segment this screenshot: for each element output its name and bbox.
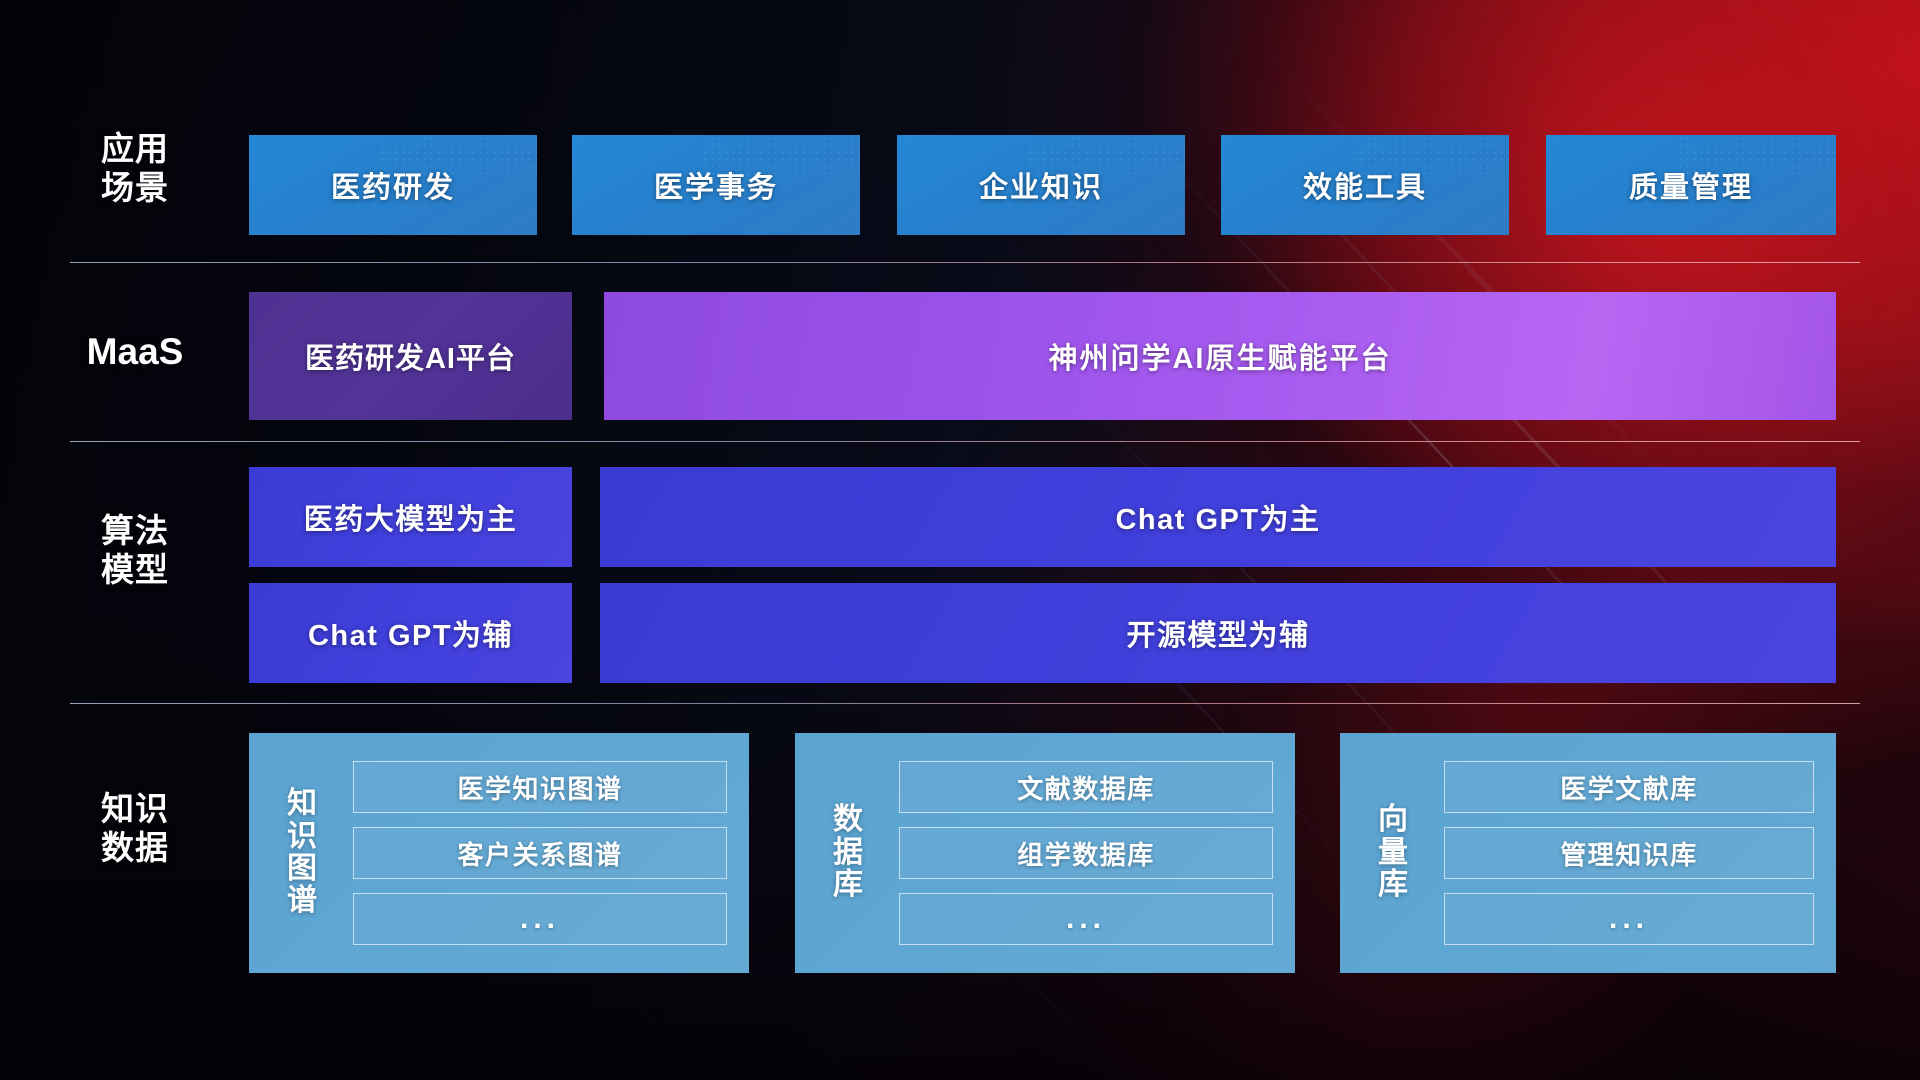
app-scenario-label-4: 效能工具 [1303, 164, 1427, 206]
knowledge-group-side-label-1: 知 识 图 谱 [271, 788, 333, 918]
algorithm-box-right-2[interactable]: 开源模型为辅 [600, 583, 1836, 683]
app-scenario-box-2[interactable]: 医学事务 [572, 135, 860, 235]
maas-main-box[interactable]: 神州问学AI原生赋能平台 [604, 292, 1836, 420]
algorithm-label-right-1: Chat GPT为主 [1115, 496, 1320, 538]
knowledge-item[interactable]: 医学文献库 [1444, 761, 1814, 813]
algorithm-box-left-2[interactable]: Chat GPT为辅 [249, 583, 572, 683]
row-divider-1 [70, 262, 1860, 263]
app-scenario-label-1: 医药研发 [331, 164, 455, 206]
app-scenario-label-5: 质量管理 [1629, 164, 1753, 206]
app-scenario-box-4[interactable]: 效能工具 [1221, 135, 1509, 235]
knowledge-group-vector-store[interactable]: 向 量 库 医学文献库 管理知识库 ... [1340, 733, 1836, 973]
maas-main-label: 神州问学AI原生赋能平台 [1048, 335, 1391, 377]
knowledge-item-more[interactable]: ... [899, 893, 1273, 945]
knowledge-item[interactable]: 管理知识库 [1444, 827, 1814, 879]
row-label-algorithm-model: 算法 模型 [70, 512, 200, 590]
algorithm-label-left-2: Chat GPT为辅 [308, 612, 513, 654]
knowledge-group-side-label-3: 向 量 库 [1362, 804, 1424, 901]
knowledge-group-knowledge-graph[interactable]: 知 识 图 谱 医学知识图谱 客户关系图谱 ... [249, 733, 749, 973]
algorithm-box-right-1[interactable]: Chat GPT为主 [600, 467, 1836, 567]
app-scenario-box-3[interactable]: 企业知识 [897, 135, 1185, 235]
diagram-layers: 应用 场景 医药研发 医学事务 企业知识 效能工具 质量管理 MaaS 医药研发… [0, 0, 1920, 1080]
knowledge-item[interactable]: 文献数据库 [899, 761, 1273, 813]
algorithm-label-right-2: 开源模型为辅 [1126, 612, 1309, 654]
row-label-maas: MaaS [70, 330, 200, 374]
app-scenario-label-3: 企业知识 [979, 164, 1103, 206]
algorithm-box-left-1[interactable]: 医药大模型为主 [249, 467, 572, 567]
row-label-knowledge-data: 知识 数据 [70, 790, 200, 868]
knowledge-item[interactable]: 组学数据库 [899, 827, 1273, 879]
app-scenario-box-1[interactable]: 医药研发 [249, 135, 537, 235]
knowledge-group-side-label-2: 数 据 库 [817, 804, 879, 901]
algorithm-label-left-1: 医药大模型为主 [304, 496, 518, 538]
maas-left-box[interactable]: 医药研发AI平台 [249, 292, 572, 420]
row-label-application-scenarios: 应用 场景 [70, 130, 200, 208]
knowledge-item[interactable]: 客户关系图谱 [353, 827, 727, 879]
knowledge-item-more[interactable]: ... [1444, 893, 1814, 945]
row-divider-3 [70, 703, 1860, 704]
knowledge-item[interactable]: 医学知识图谱 [353, 761, 727, 813]
knowledge-group-items-2: 文献数据库 组学数据库 ... [899, 761, 1273, 945]
app-scenario-box-5[interactable]: 质量管理 [1546, 135, 1836, 235]
knowledge-group-items-3: 医学文献库 管理知识库 ... [1444, 761, 1814, 945]
architecture-diagram-slide: 应用 场景 医药研发 医学事务 企业知识 效能工具 质量管理 MaaS 医药研发… [0, 0, 1920, 1080]
row-divider-2 [70, 441, 1860, 442]
knowledge-group-database[interactable]: 数 据 库 文献数据库 组学数据库 ... [795, 733, 1295, 973]
knowledge-item-more[interactable]: ... [353, 893, 727, 945]
knowledge-group-items-1: 医学知识图谱 客户关系图谱 ... [353, 761, 727, 945]
app-scenario-label-2: 医学事务 [654, 164, 778, 206]
maas-left-label: 医药研发AI平台 [305, 335, 516, 377]
